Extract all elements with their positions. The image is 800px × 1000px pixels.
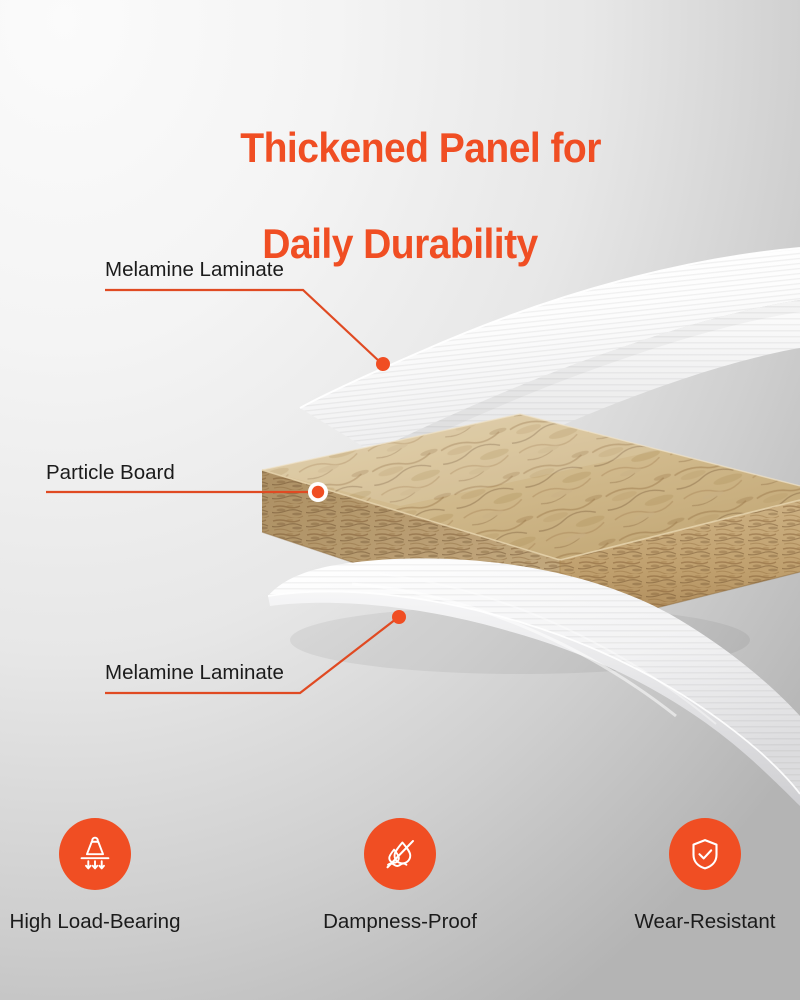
bottom-laminate-sheet (268, 558, 800, 806)
weight-lbs-icon (72, 831, 118, 877)
feature-icon-badge (669, 818, 741, 890)
water-droplet-no-icon (377, 831, 423, 877)
feature-label: Wear-Resistant (635, 910, 776, 934)
callout-label-particle-board: Particle Board (46, 461, 175, 485)
callout-label-top-laminate: Melamine Laminate (105, 258, 284, 282)
feature-icon-badge (59, 818, 131, 890)
callout-dot-bottom-laminate (392, 610, 406, 624)
feature-dampness-proof: Dampness-Proof (320, 818, 480, 934)
callout-dot-particle-board (312, 486, 324, 498)
leader-line-top-laminate (105, 290, 380, 362)
feature-list: High Load-Bearing Dampness-Proof (0, 818, 800, 934)
feature-label: High Load-Bearing (10, 910, 181, 934)
feature-high-load-bearing: High Load-Bearing (15, 818, 175, 934)
callout-label-bottom-laminate: Melamine Laminate (105, 661, 284, 685)
shield-check-icon (682, 831, 728, 877)
feature-label: Dampness-Proof (323, 910, 477, 934)
callout-dot-top-laminate (376, 357, 390, 371)
feature-wear-resistant: Wear-Resistant (625, 818, 785, 934)
infographic-canvas: Thickened Panel for Daily Durability (0, 0, 800, 1000)
feature-icon-badge (364, 818, 436, 890)
